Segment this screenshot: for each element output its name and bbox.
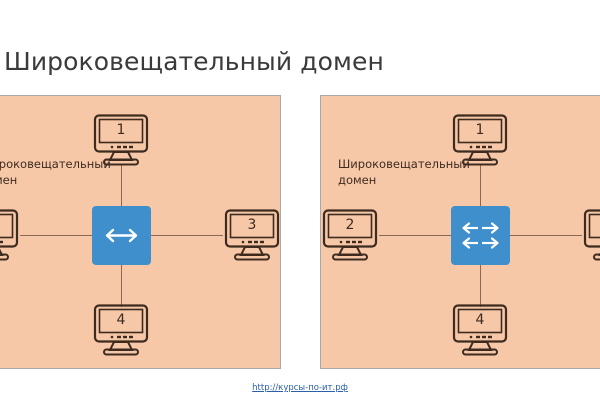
computer-monitor-icon[interactable]: 1 xyxy=(90,114,152,166)
computer-monitor-icon[interactable]: 3 xyxy=(221,209,281,261)
computer-monitor-icon[interactable]: 4 xyxy=(449,304,511,356)
computer-monitor-icon[interactable]: 4 xyxy=(90,304,152,356)
four-arrow-switch-icon xyxy=(451,206,510,265)
switch-device-icon[interactable] xyxy=(451,206,510,265)
hub-device-icon[interactable] xyxy=(92,206,151,265)
diagram-panel-left: Широковещательный домен 1 2 xyxy=(0,95,281,369)
computer-monitor-icon[interactable]: 1 xyxy=(449,114,511,166)
connector-line-left xyxy=(20,235,92,236)
connector-line-right xyxy=(510,235,582,236)
computer-monitor-icon[interactable]: 2 xyxy=(0,209,22,261)
computer-monitor-icon[interactable]: 3 xyxy=(580,209,600,261)
diagram-panel-right: Широковещательный домен 1 2 xyxy=(320,95,600,369)
double-arrow-icon xyxy=(92,206,151,265)
page-title: Широковещательный домен xyxy=(4,47,384,77)
source-url-link[interactable]: http://курсы-по-ит.рф xyxy=(0,383,600,393)
connector-line-left xyxy=(379,235,451,236)
computer-monitor-icon[interactable]: 2 xyxy=(320,209,381,261)
connector-line-right xyxy=(151,235,223,236)
